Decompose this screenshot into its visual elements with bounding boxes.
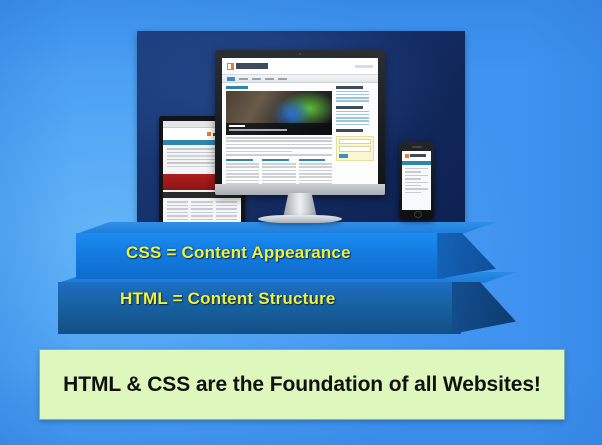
monitor-screen	[222, 58, 378, 184]
hero-image	[226, 91, 332, 135]
site-body	[222, 83, 378, 184]
joomla-website-mockup	[222, 58, 378, 184]
phone-home-button	[414, 211, 422, 218]
feature-column	[226, 159, 259, 184]
monitor-stand-base	[258, 215, 342, 223]
phone-screen	[402, 151, 431, 210]
nav-item	[278, 78, 287, 80]
banner-text: HTML & CSS are the Foundation of all Web…	[63, 373, 541, 397]
html-layer-label: HTML = Content Structure	[120, 289, 336, 309]
foundation-banner: HTML & CSS are the Foundation of all Web…	[39, 349, 565, 420]
tablet-columns	[163, 198, 241, 224]
site-header	[222, 58, 378, 74]
webcam-icon	[299, 53, 301, 55]
site-navigation	[222, 74, 378, 83]
feature-columns	[226, 159, 332, 184]
feature-column	[299, 159, 332, 184]
username-field	[339, 139, 371, 145]
hero-caption	[226, 123, 332, 135]
search-box	[355, 65, 373, 68]
slide-canvas: CSS = Content Appearance HTML = Content …	[0, 0, 602, 445]
sidebar-module	[336, 129, 374, 132]
block-side-face	[452, 282, 516, 334]
phone-text-block	[402, 166, 431, 197]
css-layer-label: CSS = Content Appearance	[126, 243, 351, 263]
block-side-face	[437, 233, 496, 279]
phone-speaker	[412, 146, 422, 148]
block-top-face	[76, 222, 496, 234]
login-module	[336, 136, 374, 161]
nav-item-active	[227, 77, 235, 81]
article-heading	[226, 86, 248, 89]
nav-item	[265, 78, 274, 80]
article-paragraph	[226, 137, 332, 156]
smartphone-device	[399, 142, 434, 220]
password-field	[339, 146, 371, 152]
main-column	[226, 86, 332, 184]
desktop-monitor	[215, 50, 385, 195]
nav-item	[252, 78, 261, 80]
phone-site-logo	[402, 151, 431, 160]
joomla-logo-icon	[227, 63, 268, 70]
phone-nav-band	[402, 161, 431, 165]
login-button	[339, 154, 348, 158]
nav-item	[239, 78, 248, 80]
feature-column	[262, 159, 295, 184]
sidebar-module	[336, 106, 374, 125]
sidebar-module	[336, 86, 374, 102]
sidebar-column	[336, 86, 374, 184]
